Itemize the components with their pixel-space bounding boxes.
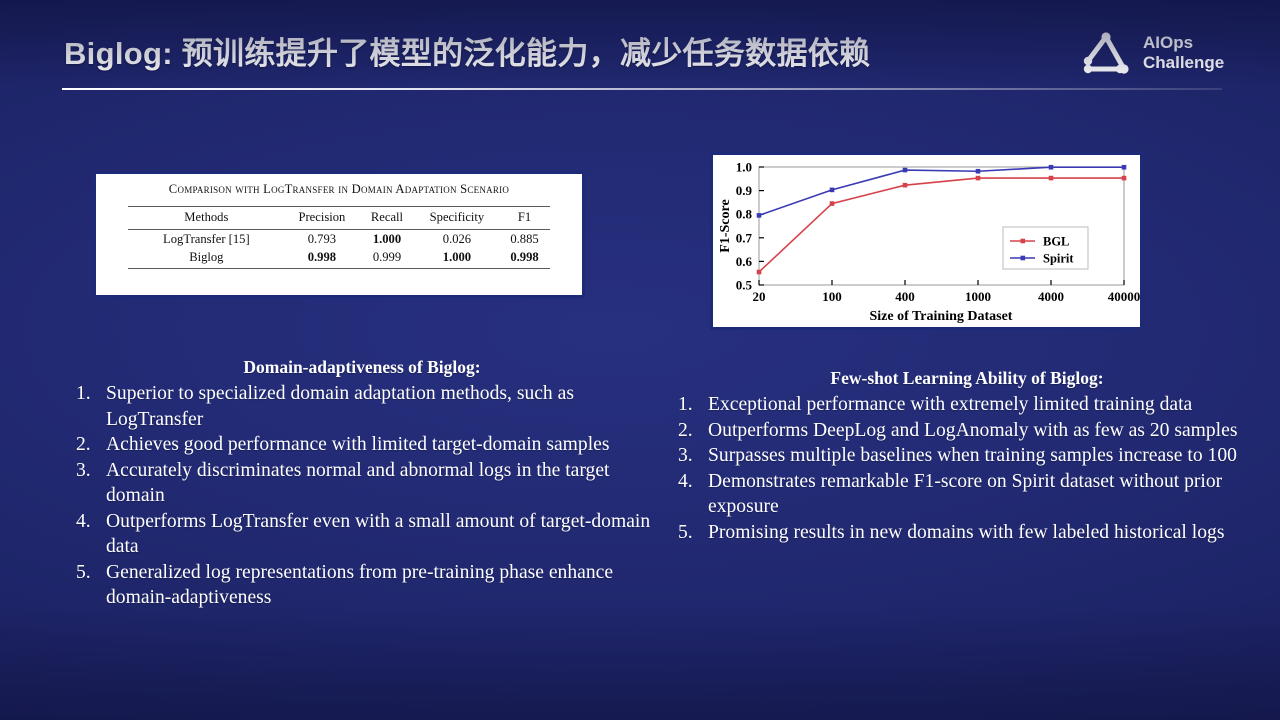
list-item-text: Exceptional performance with extremely l… (708, 394, 1192, 415)
cell-recall: 1.000 (359, 230, 415, 249)
list-item-text: Outperforms LogTransfer even with a smal… (106, 511, 650, 558)
cell-f1: 0.885 (499, 230, 550, 249)
list-item: 1.Exceptional performance with extremely… (672, 392, 1262, 418)
chart-x-tick-label: 20 (753, 289, 766, 304)
list-item: 4.Demonstrates remarkable F1-score on Sp… (672, 469, 1262, 520)
left-numbered-list: 1.Superior to specialized domain adaptat… (70, 381, 660, 611)
chart-data-point (976, 176, 981, 181)
list-item: 5.Promising results in new domains with … (672, 520, 1262, 546)
table-col-specificity: Specificity (415, 207, 499, 230)
chart-data-point (1122, 165, 1127, 170)
table-col-f1: F1 (499, 207, 550, 230)
cell-precision: 0.793 (285, 230, 359, 249)
table-col-methods: Methods (128, 207, 285, 230)
cell-f1: 0.998 (499, 248, 550, 268)
left-column-heading: Domain-adaptiveness of Biglog: (70, 357, 660, 378)
chart-legend: BGLSpirit (1003, 227, 1088, 269)
chart-x-tick-label: 100 (822, 289, 842, 304)
right-content-column: Few-shot Learning Ability of Biglog: 1.E… (672, 368, 1262, 545)
chart-data-point (1049, 165, 1054, 170)
title-underline-rule (62, 88, 1222, 90)
list-item-text: Surpasses multiple baselines when traini… (708, 445, 1237, 466)
chart-data-point (903, 168, 908, 173)
table-row: Biglog 0.998 0.999 1.000 0.998 (128, 248, 550, 268)
list-item-number: 4. (76, 509, 100, 535)
chart-data-point (830, 188, 835, 193)
chart-data-point (1049, 176, 1054, 181)
chart-y-tick-label: 1.0 (736, 160, 752, 175)
list-item-number: 5. (678, 520, 702, 546)
table-col-precision: Precision (285, 207, 359, 230)
chart-x-tick-label: 1000 (965, 289, 991, 304)
chart-y-tick-label: 0.6 (736, 254, 753, 269)
list-item-text: Outperforms DeepLog and LogAnomaly with … (708, 420, 1237, 441)
list-item-text: Promising results in new domains with fe… (708, 522, 1224, 543)
list-item-number: 2. (76, 432, 100, 458)
comparison-table-figure: Comparison with LogTransfer in Domain Ad… (93, 171, 585, 298)
list-item: 3.Accurately discriminates normal and ab… (70, 458, 660, 509)
list-item-text: Accurately discriminates normal and abno… (106, 460, 609, 507)
logo-line-2: Challenge (1143, 53, 1224, 73)
chart-x-tick-label: 40000 (1108, 289, 1140, 304)
f1-score-line-chart: 0.50.60.70.80.91.0 201004001000400040000… (713, 155, 1140, 327)
slide-header: Biglog: 预训练提升了模型的泛化能力，减少任务数据依赖 AIOps (0, 0, 1280, 96)
list-item-number: 1. (76, 381, 100, 407)
cell-specificity: 0.026 (415, 230, 499, 249)
cell-method: Biglog (128, 248, 285, 268)
comparison-table: Methods Precision Recall Specificity F1 … (128, 206, 550, 269)
list-item-number: 2. (678, 418, 702, 444)
right-numbered-list: 1.Exceptional performance with extremely… (672, 392, 1262, 545)
chart-x-axis-label: Size of Training Dataset (870, 309, 1013, 324)
table-row: LogTransfer [15] 0.793 1.000 0.026 0.885 (128, 230, 550, 249)
chart-data-point (830, 201, 835, 206)
table-col-recall: Recall (359, 207, 415, 230)
list-item: 1.Superior to specialized domain adaptat… (70, 381, 660, 432)
chart-y-tick-label: 0.5 (736, 278, 753, 293)
chart-legend-label-bgl: BGL (1043, 235, 1069, 249)
list-item-number: 1. (678, 392, 702, 418)
list-item-text: Generalized log representations from pre… (106, 562, 613, 609)
page-title: Biglog: 预训练提升了模型的泛化能力，减少任务数据依赖 (64, 28, 870, 73)
list-item-text: Superior to specialized domain adaptatio… (106, 383, 574, 430)
cell-specificity: 1.000 (415, 248, 499, 268)
chart-data-point (757, 270, 762, 275)
chart-data-point (976, 169, 981, 174)
cell-method: LogTransfer [15] (128, 230, 285, 249)
chart-legend-label-spirit: Spirit (1043, 252, 1074, 266)
chart-x-tick-label: 400 (895, 289, 915, 304)
list-item-number: 5. (76, 560, 100, 586)
list-item: 2.Outperforms DeepLog and LogAnomaly wit… (672, 418, 1262, 444)
table-caption: Comparison with LogTransfer in Domain Ad… (96, 174, 582, 199)
list-item: 4.Outperforms LogTransfer even with a sm… (70, 509, 660, 560)
table-header-row: Methods Precision Recall Specificity F1 (128, 207, 550, 230)
list-item-number: 3. (76, 458, 100, 484)
chart-data-point (903, 183, 908, 188)
list-item: 3.Surpasses multiple baselines when trai… (672, 443, 1262, 469)
left-content-column: Domain-adaptiveness of Biglog: 1.Superio… (70, 357, 660, 611)
chart-data-point (1122, 176, 1127, 181)
chart-y-tick-label: 0.7 (736, 230, 753, 245)
right-column-heading: Few-shot Learning Ability of Biglog: (672, 368, 1262, 389)
aiops-challenge-logo: AIOps Challenge (1078, 28, 1224, 78)
f1-score-line-chart-figure: 0.50.60.70.80.91.0 201004001000400040000… (710, 152, 1143, 330)
chart-y-tick-label: 0.9 (736, 183, 753, 198)
aiops-triangle-node-logo-icon (1078, 28, 1134, 78)
slide-canvas: Biglog: 预训练提升了模型的泛化能力，减少任务数据依赖 AIOps (0, 0, 1280, 720)
chart-data-point (757, 213, 762, 218)
list-item-number: 4. (678, 469, 702, 495)
list-item-text: Achieves good performance with limited t… (106, 434, 610, 455)
list-item: 2.Achieves good performance with limited… (70, 432, 660, 458)
list-item-text: Demonstrates remarkable F1-score on Spir… (708, 471, 1222, 518)
logo-wordmark: AIOps Challenge (1143, 33, 1224, 73)
logo-line-1: AIOps (1143, 33, 1224, 53)
cell-precision: 0.998 (285, 248, 359, 268)
cell-recall: 0.999 (359, 248, 415, 268)
chart-y-axis-label: F1-Score (718, 199, 733, 252)
list-item: 5.Generalized log representations from p… (70, 560, 660, 611)
chart-y-tick-label: 0.8 (736, 207, 753, 222)
list-item-number: 3. (678, 443, 702, 469)
chart-x-tick-label: 4000 (1038, 289, 1064, 304)
